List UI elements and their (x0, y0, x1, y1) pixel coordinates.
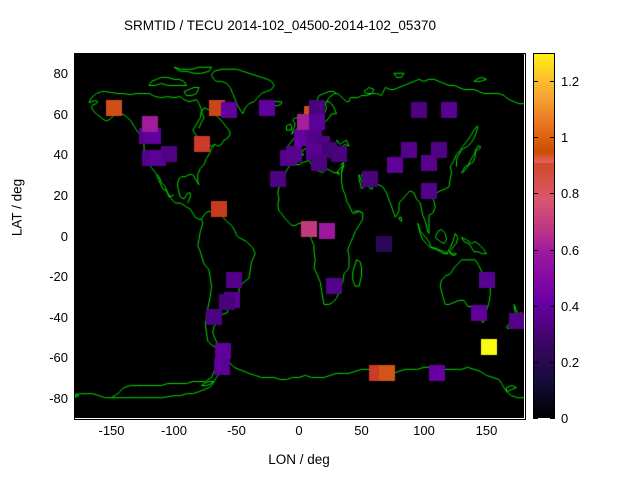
page-title: SRMTID / TECU 2014-102_04500-2014-102_05… (0, 18, 560, 33)
colorbar-tick-label: 0.4 (561, 300, 579, 313)
y-tick-label: 60 (6, 108, 68, 121)
colorbar-tick (550, 362, 555, 363)
colorbar-tick (533, 418, 538, 419)
colorbar-tick (533, 137, 538, 138)
x-tick-label: 0 (269, 424, 329, 438)
x-tick-label: 100 (394, 424, 454, 438)
colorbar-tick (550, 306, 555, 307)
y-tick-label: -40 (6, 311, 68, 324)
colorbar-tick-label: 0 (561, 412, 568, 425)
colorbar: 00.20.40.60.811.2 (533, 53, 555, 418)
x-axis-label: LON / deg (74, 452, 524, 467)
colorbar-tick-label: 0.8 (561, 187, 579, 200)
x-tick-label: -100 (144, 424, 204, 438)
colorbar-tick-label: 1.2 (561, 75, 579, 88)
colorbar-tick (533, 250, 538, 251)
colorbar-gradient (533, 53, 555, 418)
x-tick-label: 150 (457, 424, 517, 438)
colorbar-tick-label: 1 (561, 131, 568, 144)
colorbar-tick (550, 250, 555, 251)
colorbar-tick (550, 137, 555, 138)
colorbar-tick (533, 362, 538, 363)
x-axis-ticks: -150-100-50050100150 (74, 424, 524, 444)
colorbar-tick (533, 193, 538, 194)
chart-figure: SRMTID / TECU 2014-102_04500-2014-102_05… (0, 0, 640, 480)
colorbar-tick (533, 81, 538, 82)
x-tick-label: -150 (82, 424, 142, 438)
x-tick-label: 50 (332, 424, 392, 438)
y-tick-label: -80 (6, 392, 68, 405)
x-tick-label: -50 (207, 424, 267, 438)
y-axis-label: LAT / deg (10, 143, 25, 273)
data-marker-layer[interactable] (74, 53, 524, 418)
colorbar-tick-label: 0.6 (561, 244, 579, 257)
y-tick-label: 80 (6, 67, 68, 80)
colorbar-tick (550, 193, 555, 194)
colorbar-tick (550, 81, 555, 82)
map-plot-area[interactable] (74, 53, 524, 418)
colorbar-tick (550, 418, 555, 419)
colorbar-tick-label: 0.2 (561, 356, 579, 369)
y-tick-label: -60 (6, 351, 68, 364)
colorbar-tick (533, 306, 538, 307)
